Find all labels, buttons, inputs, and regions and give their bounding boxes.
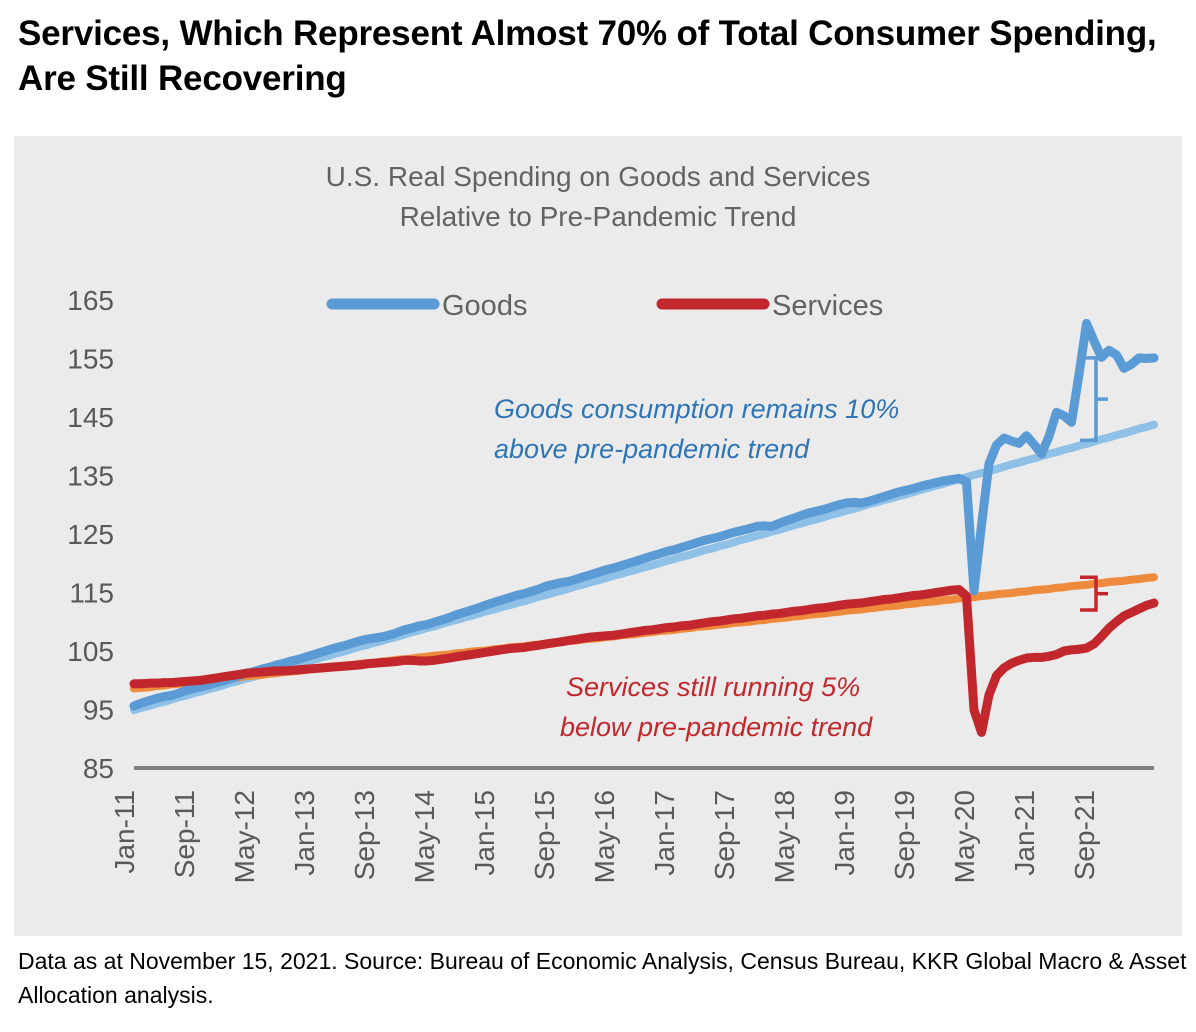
x-tick-label: Sep-13	[349, 790, 380, 880]
goods-gap-bracket	[1080, 358, 1108, 440]
x-tick-label: May-12	[229, 790, 260, 883]
x-axis-labels: Jan-11Sep-11May-12Jan-13Sep-13May-14Jan-…	[109, 790, 1100, 883]
x-tick-label: Sep-11	[169, 790, 200, 878]
y-tick-label: 155	[67, 344, 114, 375]
x-tick-label: Jan-15	[469, 790, 500, 876]
y-tick-label: 125	[67, 519, 114, 550]
legend-label-services[interactable]: Services	[772, 290, 883, 322]
x-tick-label: Sep-19	[889, 790, 920, 880]
goods-annotation-line2: above pre-pandemic trend	[494, 434, 810, 464]
x-tick-label: Sep-15	[529, 790, 560, 880]
y-tick-label: 85	[83, 753, 114, 784]
y-tick-label: 145	[67, 402, 114, 433]
y-tick-label: 105	[67, 636, 114, 667]
series-line-goods	[134, 323, 1154, 706]
y-tick-label: 135	[67, 461, 114, 492]
x-tick-label: Sep-17	[709, 790, 740, 880]
x-tick-label: Jan-17	[649, 790, 680, 876]
legend-label-goods[interactable]: Goods	[442, 290, 527, 322]
chart-subtitle-line1: U.S. Real Spending on Goods and Services	[326, 161, 871, 192]
chart-svg: U.S. Real Spending on Goods and Services…	[14, 136, 1182, 936]
chart-subtitle-line2: Relative to Pre-Pandemic Trend	[400, 201, 797, 232]
x-tick-label: Jan-21	[1009, 790, 1040, 876]
y-tick-label: 165	[67, 285, 114, 316]
x-tick-label: Jan-11	[109, 790, 140, 874]
services-annotation-line1: Services still running 5%	[566, 672, 860, 702]
x-tick-label: Jan-19	[829, 790, 860, 876]
bracket-layer	[1080, 358, 1108, 610]
x-tick-label: May-16	[589, 790, 620, 883]
series-layer	[134, 323, 1154, 732]
source-footnote: Data as at November 15, 2021. Source: Bu…	[18, 944, 1188, 1012]
services-annotation-line2: below pre-pandemic trend	[560, 712, 873, 742]
chart-subtitle: U.S. Real Spending on Goods and Services…	[326, 161, 871, 232]
goods-annotation: Goods consumption remains 10% above pre-…	[494, 394, 899, 464]
y-tick-label: 95	[83, 695, 114, 726]
chart-page: Services, Which Represent Almost 70% of …	[0, 0, 1196, 1032]
chart-panel: U.S. Real Spending on Goods and Services…	[14, 136, 1182, 936]
goods-annotation-line1: Goods consumption remains 10%	[494, 394, 899, 424]
x-tick-label: Sep-21	[1069, 790, 1100, 880]
chart-legend: Goods Services	[332, 290, 883, 322]
services-annotation: Services still running 5% below pre-pand…	[560, 672, 873, 742]
x-tick-label: May-18	[769, 790, 800, 883]
page-title: Services, Which Represent Almost 70% of …	[18, 12, 1188, 102]
y-tick-label: 115	[69, 578, 114, 609]
x-tick-label: May-14	[409, 790, 440, 883]
x-tick-label: Jan-13	[289, 790, 320, 876]
x-tick-label: May-20	[949, 790, 980, 883]
y-axis-labels: 8595105115125135145155165	[67, 285, 114, 784]
